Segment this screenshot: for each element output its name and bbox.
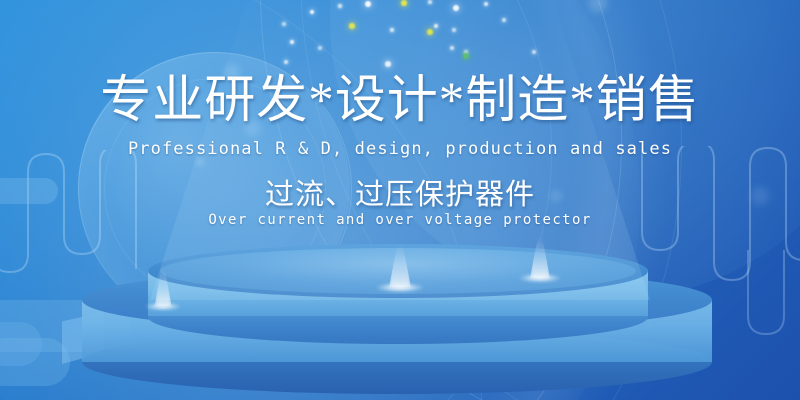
subline-english: Over current and over voltage protector <box>0 210 800 230</box>
headline-chinese: 专业研发*设计*制造*销售 <box>0 72 800 130</box>
banner-text-block: 专业研发*设计*制造*销售 Professional R & D, design… <box>0 0 800 400</box>
headline-english: Professional R & D, design, production a… <box>0 138 800 160</box>
subline-chinese: 过流、过压保护器件 <box>0 177 800 213</box>
promo-banner: 专业研发*设计*制造*销售 Professional R & D, design… <box>0 0 800 400</box>
